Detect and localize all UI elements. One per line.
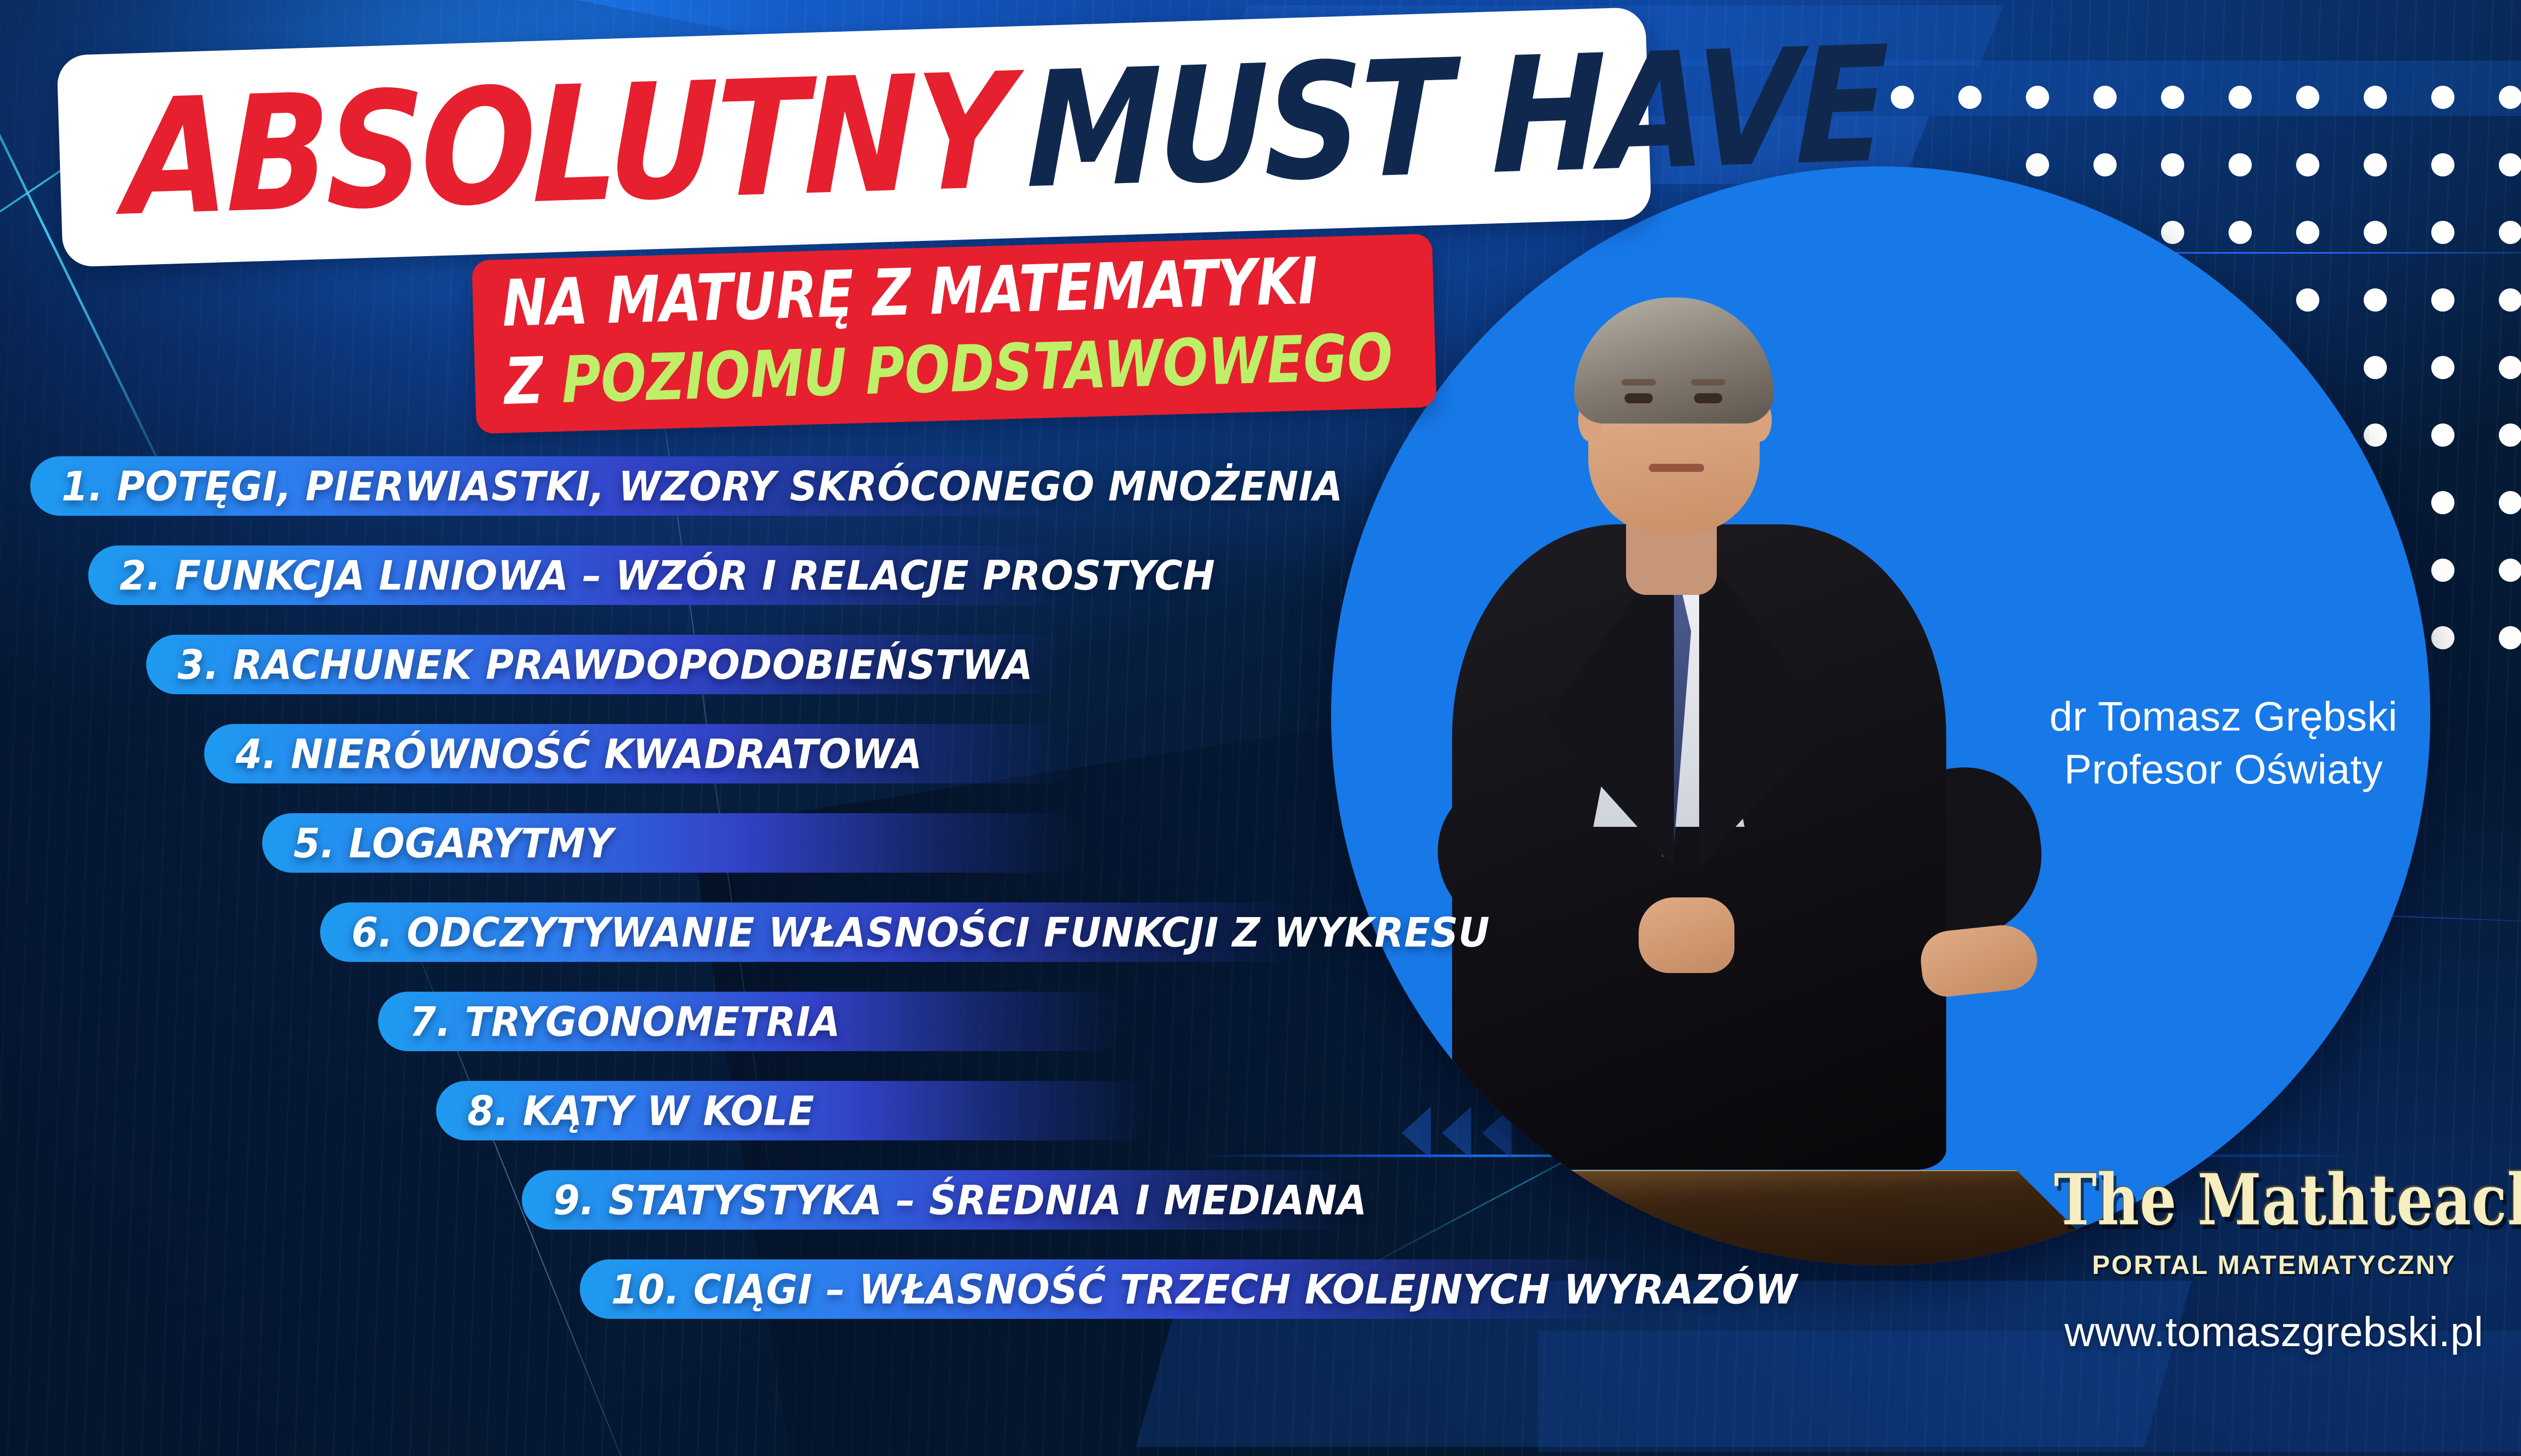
topic-pill[interactable]: 10. CIĄGI – WŁASNOŚĆ TRZECH KOLEJNYCH WY… xyxy=(580,1259,1649,1319)
grid-dot xyxy=(2431,626,2454,649)
grid-dot xyxy=(2499,559,2521,582)
grid-dot xyxy=(2499,221,2521,244)
website-url[interactable]: www.tomaszgrebski.pl xyxy=(2047,1308,2501,1356)
grid-dot xyxy=(1891,86,1914,109)
grid-dot xyxy=(2431,221,2454,244)
speaker-name-block: dr Tomasz Grębski Profesor Oświaty xyxy=(2037,691,2410,797)
grid-dot xyxy=(2229,86,2252,109)
grid-dot xyxy=(2431,491,2454,514)
grid-dot xyxy=(2499,356,2521,379)
grid-dot xyxy=(2026,86,2049,109)
speaker-title: Profesor Oświaty xyxy=(2037,744,2410,797)
topic-pill-label: 7. TRYGONOMETRIA xyxy=(378,998,841,1045)
topic-pill-label: 10. CIĄGI – WŁASNOŚĆ TRZECH KOLEJNYCH WY… xyxy=(580,1265,1797,1313)
topic-pill-label: 2. FUNKCJA LINIOWA – WZÓR I RELACJE PROS… xyxy=(88,552,1215,599)
grid-dot xyxy=(2161,86,2184,109)
topic-pill-label: 9. STATYSTYKA – ŚREDNIA I MEDIANA xyxy=(522,1176,1367,1224)
topic-pill[interactable]: 3. RACHUNEK PRAWDOPODOBIEŃSTWA xyxy=(146,635,1074,694)
topic-pill[interactable]: 4. NIERÓWNOŚĆ KWADRATOWA xyxy=(204,724,1076,783)
topic-pill[interactable]: 7. TRYGONOMETRIA xyxy=(378,992,1124,1051)
topic-pill-label: 3. RACHUNEK PRAWDOPODOBIEŃSTWA xyxy=(146,641,1033,688)
grid-dot xyxy=(2296,86,2319,109)
grid-dot xyxy=(1958,86,1982,109)
grid-dot xyxy=(2499,626,2521,649)
topic-pill[interactable]: 5. LOGARYTMY xyxy=(262,813,1082,873)
topic-pill[interactable]: 1. POTĘGI, PIERWIASTKI, WZORY SKRÓCONEGO… xyxy=(30,456,1069,516)
grid-dot xyxy=(2431,86,2454,109)
grid-dot xyxy=(2431,288,2454,312)
brand-tagline: PORTAL MATEMATYCZNY xyxy=(2047,1250,2501,1281)
topic-pill-label: 1. POTĘGI, PIERWIASTKI, WZORY SKRÓCONEGO… xyxy=(30,462,1343,510)
eye-left-shape xyxy=(1625,393,1653,403)
grid-dot xyxy=(2431,559,2454,582)
grid-dot xyxy=(2364,86,2387,109)
speaker-name: dr Tomasz Grębski xyxy=(2037,691,2410,744)
eyebrow-right-shape xyxy=(1691,379,1725,386)
mouth-shape xyxy=(1649,464,1704,472)
hair-shape xyxy=(1574,297,1774,423)
brand-name: The Mathteacher xyxy=(2054,1158,2494,1241)
topic-pill-label: 8. KĄTY W KOLE xyxy=(436,1087,814,1134)
grid-dot xyxy=(2431,423,2454,447)
hand-left-shape xyxy=(1639,897,1734,973)
topic-pill[interactable]: 6. ODCZYTYWANIE WŁASNOŚCI FUNKCJI Z WYKR… xyxy=(320,902,1303,962)
title-word-must-have: MUST HAVE xyxy=(1026,34,1887,204)
eye-right-shape xyxy=(1694,393,1722,403)
grid-dot xyxy=(2499,153,2521,176)
topic-pill-label: 5. LOGARYTMY xyxy=(262,819,614,867)
eyebrow-left-shape xyxy=(1622,379,1656,386)
topic-pill[interactable]: 2. FUNKCJA LINIOWA – WZÓR I RELACJE PROS… xyxy=(88,545,1071,605)
topic-pill[interactable]: 9. STATYSTYKA – ŚREDNIA I MEDIANA xyxy=(522,1170,1349,1230)
grid-dot xyxy=(2431,356,2454,379)
grid-dot xyxy=(2431,153,2454,176)
grid-dot xyxy=(2499,423,2521,447)
subtitle-banner: NA MATURĘ Z MATEMATYKI Z POZIOMU PODSTAW… xyxy=(472,233,1437,434)
brand-logo-block: The Mathteacher PORTAL MATEMATYCZNY www.… xyxy=(2047,1165,2501,1356)
topic-pill-label: 4. NIERÓWNOŚĆ KWADRATOWA xyxy=(204,730,922,777)
title-word-absolutny: ABSOLUTNY xyxy=(125,60,1010,231)
grid-dot xyxy=(2093,86,2117,109)
subtitle-line-2-prefix: Z xyxy=(503,343,563,419)
topic-pill[interactable]: 8. KĄTY W KOLE xyxy=(436,1081,1152,1140)
grid-dot xyxy=(2499,288,2521,312)
poster-canvas: dr Tomasz Grębski Profesor Oświaty ABSOL… xyxy=(0,0,2521,1456)
topic-pill-label: 6. ODCZYTYWANIE WŁASNOŚCI FUNKCJI Z WYKR… xyxy=(320,908,1490,956)
grid-dot xyxy=(2499,491,2521,514)
grid-dot xyxy=(2499,86,2521,109)
topic-list: 1. POTĘGI, PIERWIASTKI, WZORY SKRÓCONEGO… xyxy=(0,456,1513,1349)
